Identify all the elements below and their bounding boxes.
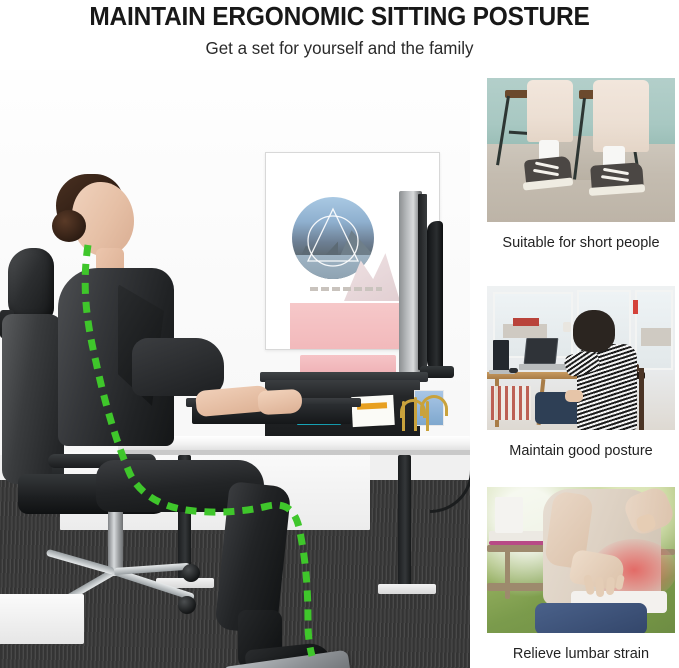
deck-post (505, 547, 510, 599)
monitor-screen-edge (418, 194, 427, 370)
chair-headrest (8, 248, 54, 322)
benefit-panel-3: Relieve lumbar strain (487, 487, 675, 663)
chair-caster-2 (178, 596, 196, 614)
gold-document-holder (400, 395, 448, 431)
monitor-arm (427, 221, 443, 371)
benefit-photo-good-posture (487, 286, 675, 430)
table-pink-edge (489, 541, 547, 545)
boy-head (573, 310, 615, 352)
side-table (0, 594, 84, 644)
page-subtitle: Get a set for yourself and the family (10, 39, 669, 58)
person-upper-arm (132, 338, 224, 396)
boy-hand (565, 390, 583, 402)
person-hand-on-keyboard (257, 389, 302, 415)
tablet-screen (524, 338, 559, 364)
poster-geometry-overlay (296, 201, 370, 275)
finger-2 (595, 577, 604, 598)
benefit-panels-column: Suitable for short people (487, 78, 675, 668)
computer-mouse (509, 368, 518, 373)
desk-foot-back (378, 584, 436, 594)
building-left (503, 324, 547, 338)
white-chair (495, 497, 523, 533)
pant-leg-right (593, 80, 649, 152)
benefit-caption-3: Relieve lumbar strain (487, 633, 675, 663)
benefit-caption-2: Maintain good posture (487, 430, 675, 460)
benefit-photo-short-people (487, 78, 675, 222)
chair-caster-3 (182, 564, 200, 582)
laptop-screen (493, 340, 509, 372)
poster-caption-text (310, 287, 382, 291)
building-right (641, 328, 671, 346)
header: MAINTAIN ERGONOMIC SITTING POSTURE Get a… (0, 0, 679, 68)
deck-rail-mid (487, 583, 547, 591)
desk-edge (118, 450, 470, 455)
chair-leg-right (639, 368, 644, 430)
pant-leg-left (527, 80, 573, 142)
woman-jeans (535, 603, 647, 633)
benefit-panel-1: Suitable for short people (487, 78, 675, 252)
holder-loop-2 (420, 395, 448, 416)
benefit-panel-2: Maintain good posture (487, 286, 675, 460)
desk-leg-back (398, 455, 411, 587)
window-sticker (633, 300, 638, 314)
person-hair-bun (52, 210, 86, 242)
radiator (491, 386, 531, 420)
building-roof-left (513, 318, 539, 326)
finger-3 (606, 577, 615, 596)
main-hero-photo (0, 70, 470, 668)
window-handle (563, 322, 571, 332)
page-title: MAINTAIN ERGONOMIC SITTING POSTURE (14, 3, 666, 31)
keyboard-dock (519, 364, 567, 370)
window-right (635, 290, 673, 370)
benefit-caption-1: Suitable for short people (487, 222, 675, 252)
benefit-photo-lumbar-strain (487, 487, 675, 633)
